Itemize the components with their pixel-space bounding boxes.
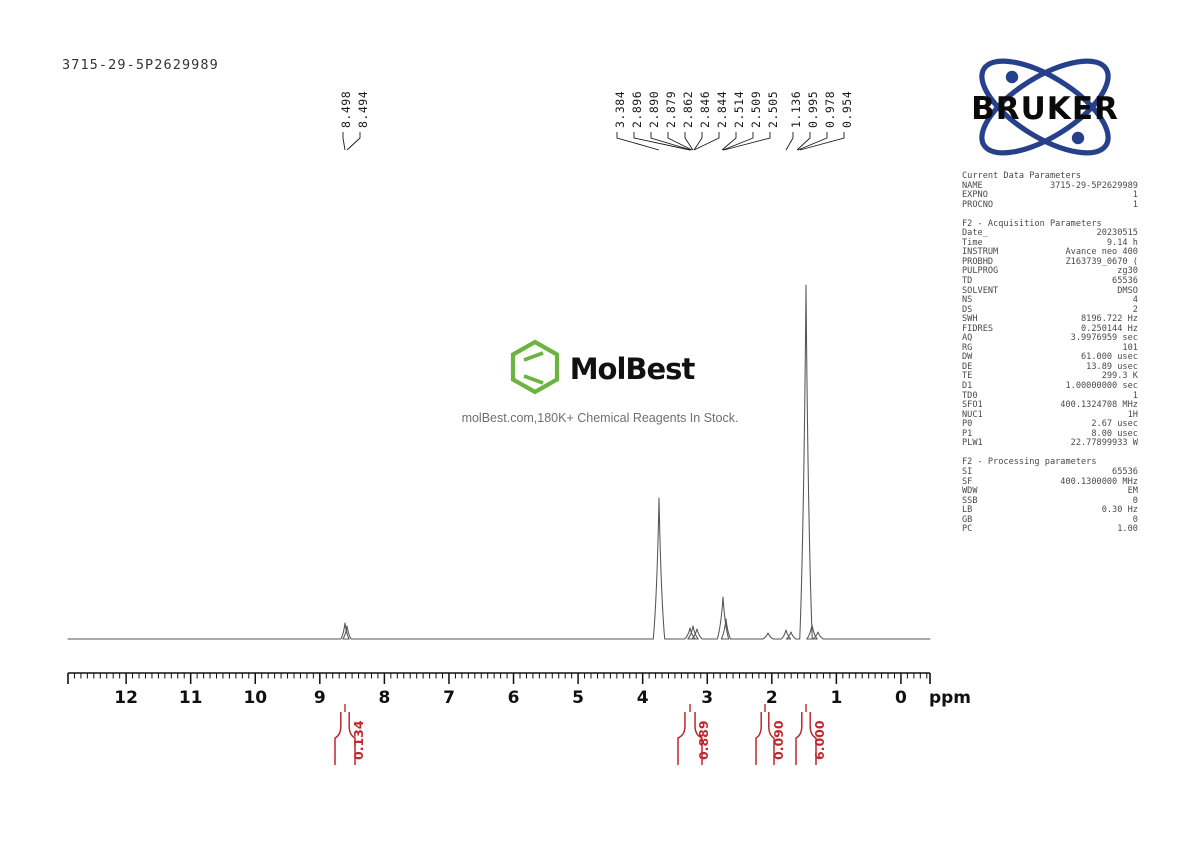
integral-value: 0.090 <box>771 720 786 760</box>
integral-curve <box>335 712 341 765</box>
nmr-spectrum-page: 3715-29-5P2629989 8.4988.4943.3842.8962.… <box>0 0 1190 842</box>
integral-curves <box>0 0 1190 842</box>
integral-value: 0.889 <box>696 720 711 760</box>
integral-value: 0.134 <box>351 720 366 760</box>
integral-value: 6.000 <box>812 720 827 760</box>
integral-curve <box>756 712 761 765</box>
integral-curve <box>678 712 685 765</box>
integral-curve <box>796 712 802 765</box>
